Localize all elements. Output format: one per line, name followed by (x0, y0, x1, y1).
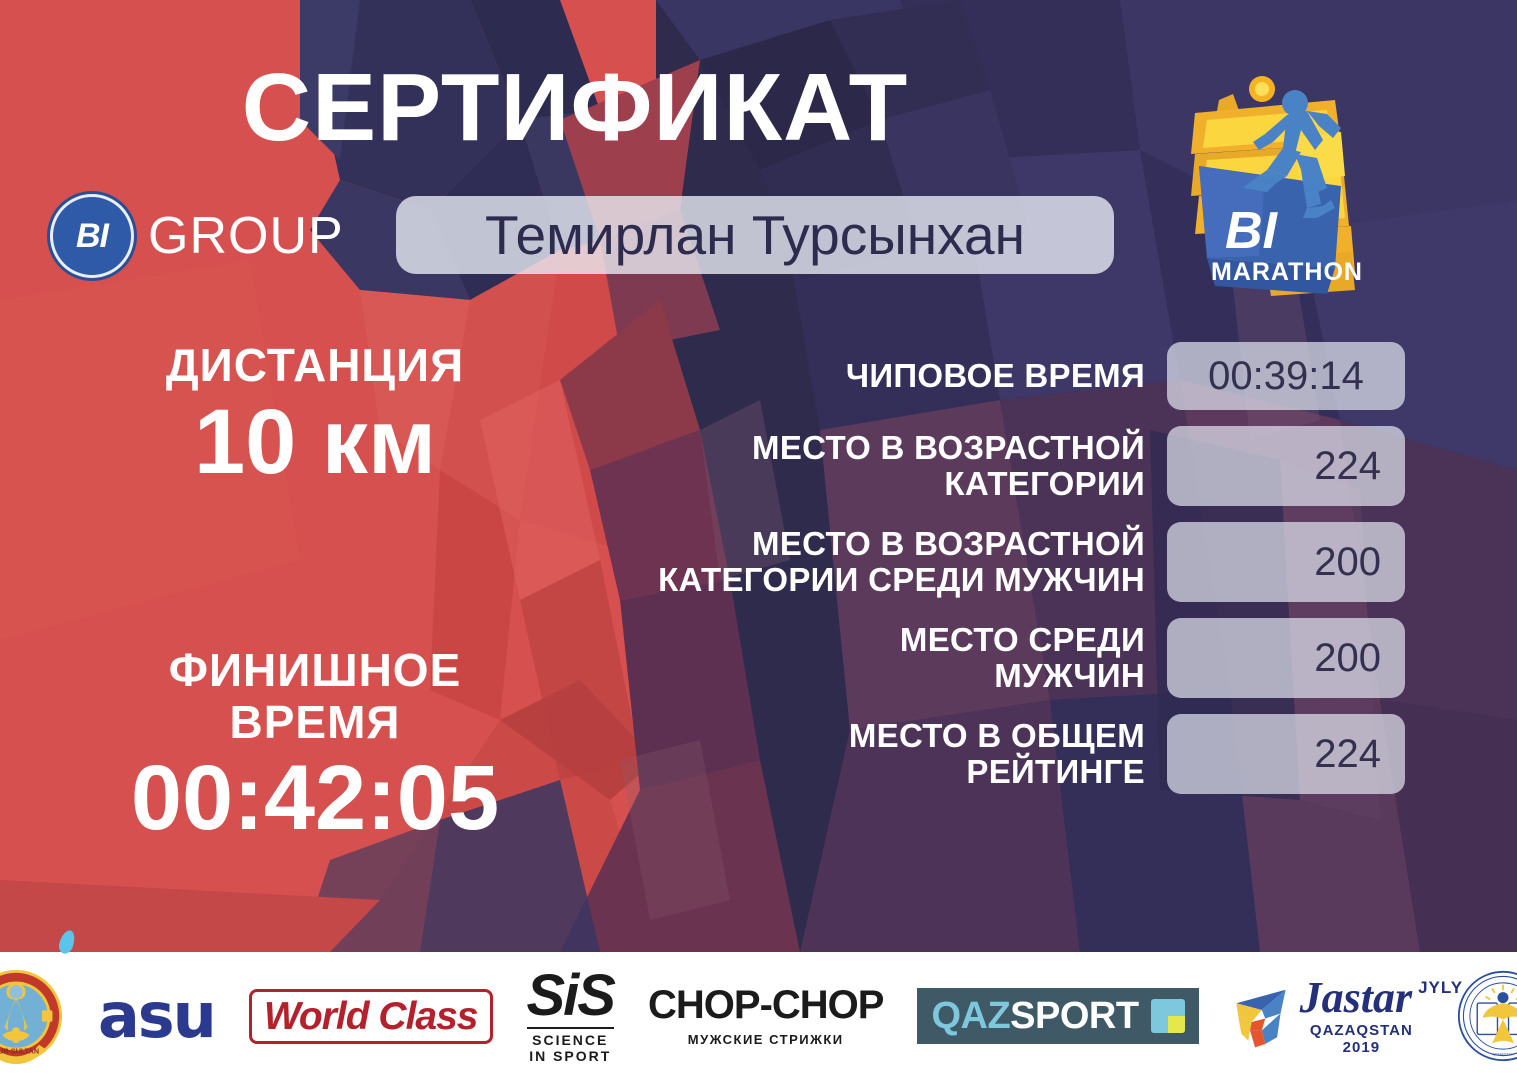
jastar-jyly-badge: JYLY (1418, 978, 1463, 998)
certificate-canvas: СЕРТИФИКАТ BI GROUP Темирлан Турсынхан (0, 0, 1517, 1080)
qazsport-sport: SPORT (1010, 995, 1138, 1037)
stat-row-age-category-men-place: МЕСТО В ВОЗРАСТНОЙКАТЕГОРИИ СРЕДИ МУЖЧИН… (600, 522, 1405, 602)
sponsor-nur-sultan: NUR-SULTAN (0, 968, 64, 1064)
sponsor-world-class: World Class (249, 968, 493, 1064)
results-list: ЧИПОВОЕ ВРЕМЯ 00:39:14 МЕСТО В ВОЗРАСТНО… (600, 342, 1405, 810)
bi-marathon-logo: BI MARATHON (1155, 58, 1405, 313)
stat-label: МЕСТО В ВОЗРАСТНОЙКАТЕГОРИИ (600, 430, 1167, 501)
sponsor-asu: asu (98, 968, 215, 1064)
nur-sultan-emblem-icon: NUR-SULTAN (0, 968, 64, 1064)
world-class-badge: World Class (249, 989, 493, 1044)
qazsport-square-icon (1151, 999, 1185, 1033)
stat-pill: 200 (1167, 522, 1405, 602)
page-title: СЕРТИФИКАТ (0, 58, 1150, 159)
sis-logo-group: SiS SCIENCE IN SPORT (527, 968, 615, 1063)
sis-wordmark: SiS (527, 968, 615, 1023)
stat-value: 224 (1167, 444, 1405, 489)
stat-pill: 200 (1167, 618, 1405, 698)
world-class-wordmark: World Class (264, 997, 478, 1036)
distance-block: ДИСТАНЦИЯ 10 км (40, 340, 590, 490)
jastar-wordmark-group: Jastar JYLY QAZAQSTAN 2019 (1300, 976, 1423, 1056)
distance-value: 10 км (40, 394, 590, 491)
asu-wordmark: asu (98, 985, 215, 1047)
finish-time-block: ФИНИШНОЕ ВРЕМЯ 00:42:05 (40, 645, 590, 847)
distance-label: ДИСТАНЦИЯ (40, 340, 590, 392)
stat-row-age-category-place: МЕСТО В ВОЗРАСТНОЙКАТЕГОРИИ 224 (600, 426, 1405, 506)
sponsor-sis: SiS SCIENCE IN SPORT (527, 968, 615, 1064)
stat-value: 224 (1167, 732, 1405, 777)
jastar-bird-icon (1233, 975, 1294, 1057)
svg-text:BI: BI (1225, 202, 1279, 260)
stat-label: МЕСТО СРЕДИМУЖЧИН (600, 622, 1167, 693)
finish-time-value: 00:42:05 (40, 750, 590, 847)
sponsor-ministry: ҚАЗАҚСТАН (1457, 968, 1517, 1064)
svg-text:MARATHON: MARATHON (1211, 258, 1363, 286)
stat-row-chip-time: ЧИПОВОЕ ВРЕМЯ 00:39:14 (600, 342, 1405, 410)
stat-value: 200 (1167, 540, 1405, 585)
qazsport-qaz: QAZ (931, 995, 1010, 1037)
stat-label: МЕСТО В ОБЩЕМРЕЙТИНГЕ (600, 718, 1167, 789)
ministry-seal-icon: ҚАЗАҚСТАН (1457, 970, 1517, 1062)
finish-time-label-line1: ФИНИШНОЕ (40, 645, 590, 697)
stat-label: МЕСТО В ВОЗРАСТНОЙКАТЕГОРИИ СРЕДИ МУЖЧИН (600, 526, 1167, 597)
svg-text:NUR-SULTAN: NUR-SULTAN (0, 1046, 39, 1055)
stat-row-overall-place: МЕСТО В ОБЩЕМРЕЙТИНГЕ 224 (600, 714, 1405, 794)
stat-pill: 224 (1167, 714, 1405, 794)
svg-text:ҚАЗАҚСТАН: ҚАЗАҚСТАН (1493, 1053, 1514, 1057)
chop-chop-logo-group: CHOP-CHOP МУЖСКИЕ СТРИЖКИ (648, 985, 883, 1047)
stat-row-men-place: МЕСТО СРЕДИМУЖЧИН 200 (600, 618, 1405, 698)
jastar-wordmark: Jastar (1300, 976, 1423, 1020)
stat-pill: 00:39:14 (1167, 342, 1405, 410)
sponsor-qazsport: QAZSPORT (917, 968, 1198, 1064)
stat-pill: 224 (1167, 426, 1405, 506)
stat-label: ЧИПОВОЕ ВРЕМЯ (600, 358, 1167, 394)
sponsor-bar: NUR-SULTAN asu World Class SiS SCIENCE I… (0, 952, 1517, 1080)
jastar-subtext: QAZAQSTAN 2019 (1300, 1022, 1423, 1056)
finish-time-label-line2: ВРЕМЯ (40, 697, 590, 749)
participant-name-text: Темирлан Турсынхан (485, 203, 1025, 267)
bi-badge-icon: BI (50, 194, 134, 278)
bi-group-wordmark: GROUP (148, 206, 344, 266)
qazsport-wordmark: QAZSPORT (931, 997, 1138, 1035)
sponsor-chop-chop: CHOP-CHOP МУЖСКИЕ СТРИЖКИ (648, 968, 883, 1064)
qazsport-badge: QAZSPORT (917, 988, 1198, 1044)
sis-tagline: SCIENCE IN SPORT (527, 1027, 615, 1064)
stat-value: 00:39:14 (1167, 354, 1405, 399)
chop-chop-wordmark: CHOP-CHOP (648, 985, 883, 1025)
sponsor-jastar: Jastar JYLY QAZAQSTAN 2019 (1233, 968, 1423, 1064)
participant-name-field: Темирлан Турсынхан (396, 196, 1114, 274)
chop-chop-tagline: МУЖСКИЕ СТРИЖКИ (648, 1032, 883, 1047)
bi-group-logo: BI GROUP (50, 194, 344, 278)
stat-value: 200 (1167, 636, 1405, 681)
